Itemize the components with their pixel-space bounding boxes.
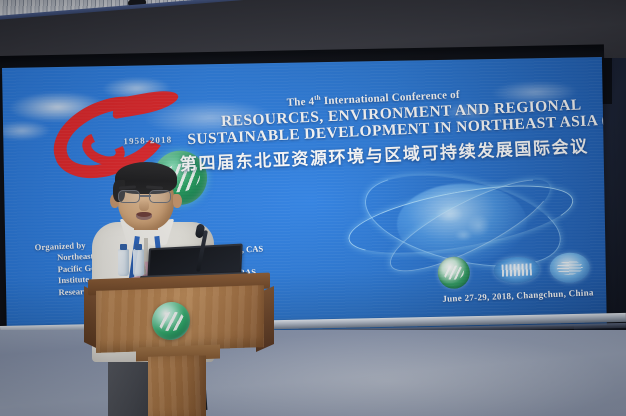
water-bottle (133, 249, 144, 276)
iga-cas-logo (437, 256, 470, 289)
lens-left (118, 190, 140, 203)
partner-institute-logo (493, 256, 540, 284)
partner-logo-row (401, 251, 582, 293)
podium-column (148, 355, 206, 416)
anniversary-years: 1958-2018 (123, 134, 172, 146)
conference-photo: 1958-2018 The 4th International Conferen… (0, 0, 626, 416)
glasses-bridge (140, 195, 151, 197)
water-bottle (118, 249, 129, 276)
speaker-mouth (136, 212, 152, 220)
partner-academy-logo (549, 252, 590, 284)
speaker-nose (139, 200, 149, 211)
title-prefix: The 4 (286, 96, 314, 109)
lens-right (149, 190, 171, 203)
podium (86, 276, 272, 416)
